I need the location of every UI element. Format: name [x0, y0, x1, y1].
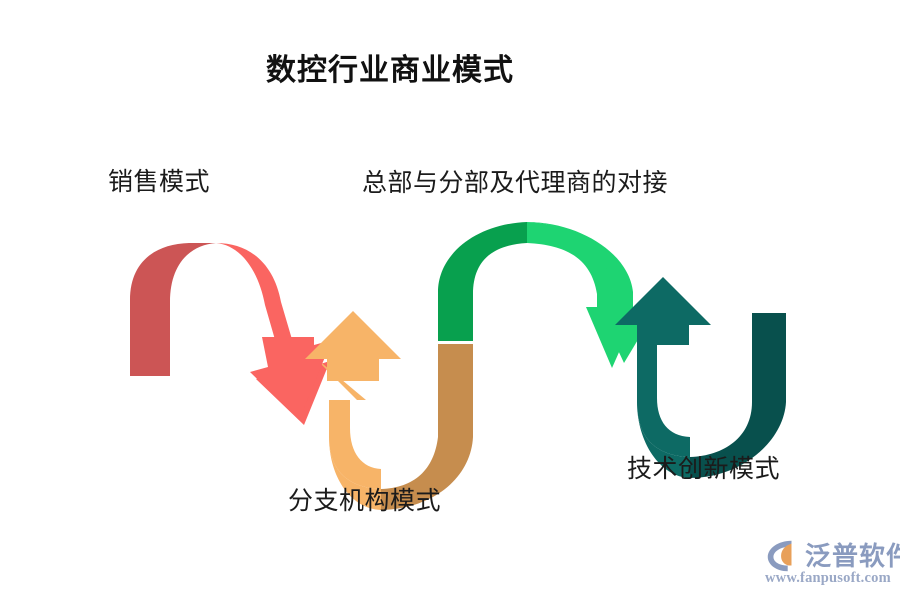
brand-url: www.fanpusoft.com	[765, 570, 891, 587]
stage-label-sales: 销售模式	[108, 162, 210, 198]
stage-label-innovation: 技术创新模式	[627, 449, 780, 485]
segment-sales-left-half	[130, 243, 216, 376]
segment-sales-right-half	[216, 243, 330, 425]
brand-watermark: 泛普软件 www.fanpusoft.com	[763, 535, 893, 593]
stage-label-headquarters: 总部与分部及代理商的对接	[362, 163, 668, 199]
segment-innovation-teal[interactable]	[615, 277, 786, 478]
wave-ribbon-diagram	[0, 0, 900, 600]
brand-name: 泛普软件	[805, 536, 900, 573]
slide-canvas: 数控行业商业模式	[0, 0, 900, 600]
stage-label-branch: 分支机构模式	[288, 481, 441, 517]
segment-headquarters-right-shaft	[527, 222, 613, 312]
segment-headquarters-left-half	[438, 222, 527, 341]
